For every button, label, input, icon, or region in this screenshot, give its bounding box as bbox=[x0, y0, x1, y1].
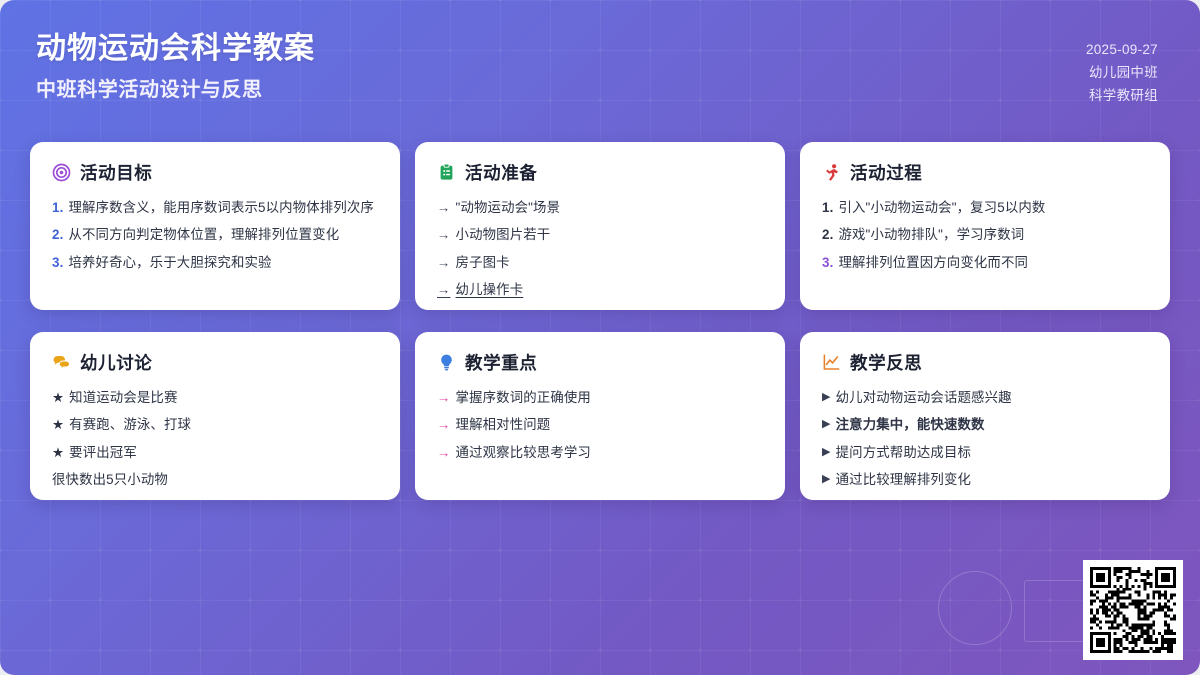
card-children-discussion: 幼儿讨论 ★ 知道运动会是比赛 ★ 有赛跑、游泳、打球 ★ 要评出冠军 很快数出… bbox=[30, 332, 400, 500]
card-header: 活动准备 bbox=[437, 160, 765, 185]
card-body: ▶ 幼儿对动物运动会话题感兴趣 ▶ 注意力集中，能快速数数 ▶ 提问方式帮助达成… bbox=[822, 388, 1150, 491]
item-marker: 3. bbox=[822, 253, 833, 273]
item-text: 通过观察比较思考学习 bbox=[456, 443, 765, 463]
list-item: → 掌握序数词的正确使用 bbox=[437, 388, 765, 408]
item-text: 引入"小动物运动会"，复习5以内数 bbox=[838, 198, 1150, 218]
card-teaching-focus: 教学重点 → 掌握序数词的正确使用 → 理解相对性问题 → 通过观察比较思考学习 bbox=[415, 332, 785, 500]
list-item: 很快数出5只小动物 bbox=[52, 470, 380, 490]
list-item: ▶ 注意力集中，能快速数数 bbox=[822, 415, 1150, 435]
card-header: 活动目标 bbox=[52, 160, 380, 185]
line-chart-icon bbox=[822, 353, 841, 372]
item-marker: ▶ bbox=[822, 443, 831, 462]
item-marker: → bbox=[437, 388, 451, 408]
target-icon bbox=[52, 163, 71, 182]
card-title: 活动目标 bbox=[80, 160, 152, 185]
item-text: 注意力集中，能快速数数 bbox=[836, 415, 1150, 435]
item-text: 知道运动会是比赛 bbox=[69, 388, 380, 408]
meta-group: 科学教研组 bbox=[1086, 84, 1158, 107]
card-title: 教学重点 bbox=[465, 350, 537, 375]
card-title: 幼儿讨论 bbox=[80, 350, 152, 375]
card-grid: 活动目标 1. 理解序数含义，能用序数词表示5以内物体排列次序 2. 从不同方向… bbox=[30, 142, 1170, 500]
qr-code[interactable] bbox=[1083, 560, 1183, 660]
item-text: 从不同方向判定物体位置，理解排列位置变化 bbox=[68, 225, 380, 245]
item-marker: 1. bbox=[822, 198, 833, 218]
item-text: 理解序数含义，能用序数词表示5以内物体排列次序 bbox=[68, 198, 380, 218]
runner-icon bbox=[822, 163, 841, 182]
item-marker: 2. bbox=[822, 225, 833, 245]
item-text: 通过比较理解排列变化 bbox=[836, 470, 1150, 490]
header-meta: 2025-09-27 幼儿园中班 科学教研组 bbox=[1086, 28, 1158, 108]
item-text: 理解排列位置因方向变化而不同 bbox=[838, 253, 1150, 273]
card-body: ★ 知道运动会是比赛 ★ 有赛跑、游泳、打球 ★ 要评出冠军 很快数出5只小动物 bbox=[52, 388, 380, 491]
list-item: → 幼儿操作卡 bbox=[437, 280, 765, 300]
item-marker: → bbox=[437, 253, 451, 273]
list-item: → 理解相对性问题 bbox=[437, 415, 765, 435]
card-header: 教学反思 bbox=[822, 350, 1150, 375]
item-marker: ★ bbox=[52, 443, 64, 463]
item-marker: ▶ bbox=[822, 415, 831, 434]
list-item: → 通过观察比较思考学习 bbox=[437, 443, 765, 463]
item-marker: → bbox=[437, 443, 451, 463]
title-block: 动物运动会科学教案 中班科学活动设计与反思 bbox=[36, 28, 315, 103]
card-activity-preparation: 活动准备 → "动物运动会"场景 → 小动物图片若干 → 房子图卡 → 幼儿操作… bbox=[415, 142, 785, 310]
list-item: 1. 引入"小动物运动会"，复习5以内数 bbox=[822, 198, 1150, 218]
item-marker: 2. bbox=[52, 225, 63, 245]
item-marker: ▶ bbox=[822, 470, 831, 489]
item-text: 游戏"小动物排队"，学习序数词 bbox=[838, 225, 1150, 245]
item-marker: → bbox=[437, 280, 451, 300]
item-marker: ★ bbox=[52, 415, 64, 435]
card-title: 教学反思 bbox=[850, 350, 922, 375]
card-body: 1. 理解序数含义，能用序数词表示5以内物体排列次序 2. 从不同方向判定物体位… bbox=[52, 198, 380, 273]
speech-bubbles-icon bbox=[52, 353, 71, 372]
meta-class: 幼儿园中班 bbox=[1086, 61, 1158, 84]
clipboard-icon bbox=[437, 163, 456, 182]
item-text: 有赛跑、游泳、打球 bbox=[69, 415, 380, 435]
card-header: 教学重点 bbox=[437, 350, 765, 375]
list-item: ▶ 通过比较理解排列变化 bbox=[822, 470, 1150, 490]
item-text: "动物运动会"场景 bbox=[456, 198, 765, 218]
item-text: 掌握序数词的正确使用 bbox=[456, 388, 765, 408]
list-item: 1. 理解序数含义，能用序数词表示5以内物体排列次序 bbox=[52, 198, 380, 218]
card-header: 活动过程 bbox=[822, 160, 1150, 185]
list-item: → "动物运动会"场景 bbox=[437, 198, 765, 218]
card-teaching-reflection: 教学反思 ▶ 幼儿对动物运动会话题感兴趣 ▶ 注意力集中，能快速数数 ▶ 提问方… bbox=[800, 332, 1170, 500]
card-activity-process: 活动过程 1. 引入"小动物运动会"，复习5以内数 2. 游戏"小动物排队"，学… bbox=[800, 142, 1170, 310]
list-item: 3. 培养好奇心，乐于大胆探究和实验 bbox=[52, 253, 380, 273]
meta-date: 2025-09-27 bbox=[1086, 38, 1158, 61]
list-item: → 小动物图片若干 bbox=[437, 225, 765, 245]
item-text: 幼儿操作卡 bbox=[456, 280, 765, 300]
decorative-circle bbox=[938, 571, 1012, 645]
item-marker: → bbox=[437, 225, 451, 245]
item-text: 要评出冠军 bbox=[69, 443, 380, 463]
slide-header: 动物运动会科学教案 中班科学活动设计与反思 2025-09-27 幼儿园中班 科… bbox=[0, 0, 1200, 128]
list-item: ★ 知道运动会是比赛 bbox=[52, 388, 380, 408]
item-text: 很快数出5只小动物 bbox=[52, 470, 380, 490]
list-item: ▶ 幼儿对动物运动会话题感兴趣 bbox=[822, 388, 1150, 408]
qr-code-canvas bbox=[1090, 567, 1176, 653]
card-body: → "动物运动会"场景 → 小动物图片若干 → 房子图卡 → 幼儿操作卡 bbox=[437, 198, 765, 301]
card-activity-goals: 活动目标 1. 理解序数含义，能用序数词表示5以内物体排列次序 2. 从不同方向… bbox=[30, 142, 400, 310]
card-body: 1. 引入"小动物运动会"，复习5以内数 2. 游戏"小动物排队"，学习序数词 … bbox=[822, 198, 1150, 273]
list-item: ▶ 提问方式帮助达成目标 bbox=[822, 443, 1150, 463]
item-text: 幼儿对动物运动会话题感兴趣 bbox=[836, 388, 1150, 408]
item-text: 理解相对性问题 bbox=[456, 415, 765, 435]
item-text: 小动物图片若干 bbox=[456, 225, 765, 245]
list-item: 2. 游戏"小动物排队"，学习序数词 bbox=[822, 225, 1150, 245]
page-title: 动物运动会科学教案 bbox=[36, 30, 315, 68]
item-marker: → bbox=[437, 415, 451, 435]
card-header: 幼儿讨论 bbox=[52, 350, 380, 375]
item-marker: ▶ bbox=[822, 388, 831, 407]
page-subtitle: 中班科学活动设计与反思 bbox=[36, 77, 315, 103]
item-text: 提问方式帮助达成目标 bbox=[836, 443, 1150, 463]
card-body: → 掌握序数词的正确使用 → 理解相对性问题 → 通过观察比较思考学习 bbox=[437, 388, 765, 463]
list-item: → 房子图卡 bbox=[437, 253, 765, 273]
item-marker: → bbox=[437, 198, 451, 218]
list-item: ★ 有赛跑、游泳、打球 bbox=[52, 415, 380, 435]
list-item: 2. 从不同方向判定物体位置，理解排列位置变化 bbox=[52, 225, 380, 245]
lightbulb-icon bbox=[437, 353, 456, 372]
item-marker: 1. bbox=[52, 198, 63, 218]
list-item: 3. 理解排列位置因方向变化而不同 bbox=[822, 253, 1150, 273]
card-title: 活动过程 bbox=[850, 160, 922, 185]
slide-canvas: 动物运动会科学教案 中班科学活动设计与反思 2025-09-27 幼儿园中班 科… bbox=[0, 0, 1200, 675]
item-text: 培养好奇心，乐于大胆探究和实验 bbox=[68, 253, 380, 273]
item-text: 房子图卡 bbox=[456, 253, 765, 273]
list-item: ★ 要评出冠军 bbox=[52, 443, 380, 463]
card-title: 活动准备 bbox=[465, 160, 537, 185]
item-marker: ★ bbox=[52, 388, 64, 408]
item-marker: 3. bbox=[52, 253, 63, 273]
